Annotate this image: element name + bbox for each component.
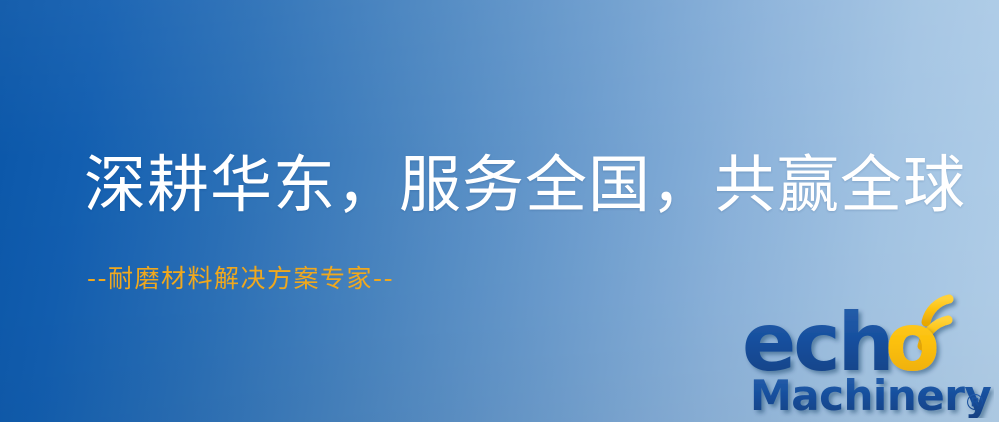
registered-trademark-icon: ®: [964, 391, 986, 416]
promo-banner: 深耕华东，服务全国，共赢全球 --耐磨材料解决方案专家--: [0, 0, 999, 422]
svg-text:Machinery: Machinery: [750, 371, 991, 418]
logo-tagline-machinery: Machinery ®: [750, 371, 991, 418]
banner-headline: 深耕华东，服务全国，共赢全球: [84, 152, 966, 219]
echo-machinery-logo[interactable]: ech o Machinery ®: [742, 292, 994, 418]
banner-subtitle: --耐磨材料解决方案专家--: [87, 264, 394, 294]
